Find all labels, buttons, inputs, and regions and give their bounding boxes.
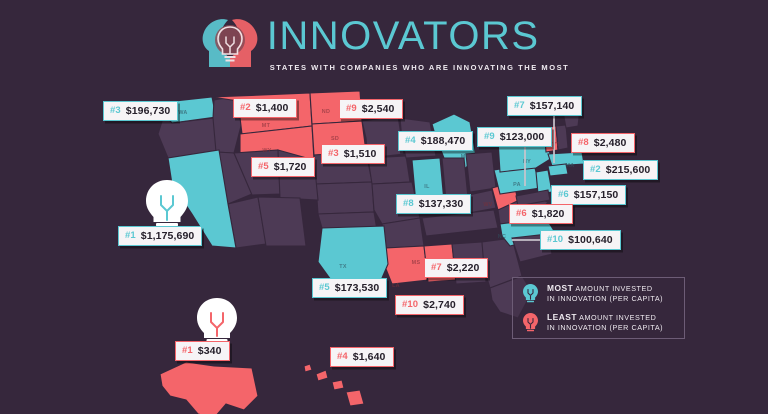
pill-rank: #2 (590, 164, 601, 175)
pill-amount: $1,720 (274, 161, 307, 173)
value-pill-mi[interactable]: #4$188,470 (398, 131, 473, 151)
pill-amount: $1,400 (256, 102, 289, 114)
state-abbr-MA: MA (566, 163, 575, 169)
leader-line-ny (553, 111, 555, 163)
pill-amount: $1,820 (532, 208, 565, 220)
pill-amount: $137,330 (419, 198, 464, 210)
pill-rank: #4 (405, 135, 416, 146)
state-OH (466, 152, 496, 192)
value-pill-sd[interactable]: #3$1,510 (321, 144, 385, 164)
leader-line-pa (524, 142, 526, 186)
pill-rank: #3 (328, 148, 339, 159)
value-pill-wy[interactable]: #5$1,720 (251, 157, 315, 177)
legend-least-strong: LEAST (547, 312, 577, 322)
value-pill-ak[interactable]: #1$340 (175, 341, 230, 361)
state-AK (160, 362, 258, 414)
brand-title: INNOVATORS (267, 16, 540, 56)
pill-amount: $196,730 (126, 105, 171, 117)
pill-amount: $188,470 (421, 135, 466, 147)
state-abbr-WV: WV (483, 202, 492, 208)
value-pill-nc[interactable]: #10$100,640 (540, 230, 621, 250)
pill-amount: $1,640 (353, 351, 386, 363)
state-HI-3 (332, 380, 344, 390)
pill-rank: #5 (319, 282, 330, 293)
pill-amount: $215,600 (606, 164, 651, 176)
legend-most-line1: MOST AMOUNT INVESTED (547, 283, 663, 294)
value-pill-ma[interactable]: #2$215,600 (583, 160, 658, 180)
value-pill-la[interactable]: #10$2,740 (395, 295, 464, 315)
value-pill-mt[interactable]: #2$1,400 (233, 98, 297, 118)
legend-least-rest: AMOUNT INVESTED (577, 313, 656, 322)
value-pill-ca[interactable]: #1$1,175,690 (118, 226, 202, 246)
state-abbr-NC: NC (498, 234, 506, 240)
state-AR (382, 218, 424, 248)
state-KS (316, 182, 374, 214)
pill-rank: #10 (547, 234, 563, 245)
value-pill-nj[interactable]: #6$157,150 (551, 185, 626, 205)
state-abbr-MI: MI (461, 154, 468, 160)
head-lightbulb-icon (199, 15, 261, 73)
state-abbr-PA: PA (513, 182, 521, 188)
pill-amount: $1,510 (344, 148, 377, 160)
state-HI-1 (304, 364, 312, 372)
pill-rank: #8 (578, 137, 589, 148)
legend-most-rest: AMOUNT INVESTED (573, 284, 652, 293)
legend-least-line1: LEAST AMOUNT INVESTED (547, 312, 663, 323)
value-pill-ms[interactable]: #7$2,220 (424, 258, 488, 278)
pill-amount: $123,000 (500, 131, 545, 143)
legend-text-least: LEAST AMOUNT INVESTED IN INNOVATION (PER… (547, 312, 663, 333)
pill-amount: $157,150 (574, 189, 619, 201)
pill-amount: $157,140 (530, 100, 575, 112)
pill-rank: #8 (403, 198, 414, 209)
pill-amount: $2,220 (447, 262, 480, 274)
pill-rank: #2 (240, 102, 251, 113)
pill-rank: #10 (402, 299, 418, 310)
pill-rank: #9 (484, 131, 495, 142)
pill-rank: #5 (258, 161, 269, 172)
value-pill-il[interactable]: #8$137,330 (396, 194, 471, 214)
pill-amount: $2,480 (594, 137, 627, 149)
pill-amount: $2,540 (362, 103, 395, 115)
state-abbr-WY: WY (262, 148, 271, 154)
value-pill-nd[interactable]: #9$2,540 (339, 99, 403, 119)
value-pill-wv[interactable]: #6$1,820 (509, 204, 573, 224)
pill-amount: $340 (198, 345, 222, 357)
pill-rank: #1 (182, 345, 193, 356)
pill-amount: $100,640 (568, 234, 613, 246)
leader-line-nc (512, 239, 542, 241)
legend-most-strong: MOST (547, 283, 573, 293)
state-abbr-TX: TX (339, 264, 347, 270)
pill-rank: #4 (337, 351, 348, 362)
legend-least-line2: IN INNOVATION (PER CAPITA) (547, 323, 663, 333)
value-pill-vt[interactable]: #8$2,480 (571, 133, 635, 153)
header: INNOVATORS STATES WITH COMPANIES WHO ARE… (0, 8, 768, 80)
legend: MOST AMOUNT INVESTED IN INNOVATION (PER … (512, 277, 685, 339)
title-block: INNOVATORS STATES WITH COMPANIES WHO ARE… (267, 16, 570, 72)
legend-most-line2: IN INNOVATION (PER CAPITA) (547, 294, 663, 304)
state-abbr-WA: WA (178, 110, 187, 116)
pill-rank: #6 (558, 189, 569, 200)
subtitle: STATES WITH COMPANIES WHO ARE INNOVATING… (270, 63, 570, 72)
pill-rank: #7 (514, 100, 525, 111)
pill-amount: $173,530 (335, 282, 380, 294)
value-pill-wa[interactable]: #3$196,730 (103, 101, 178, 121)
state-abbr-MT: MT (262, 123, 271, 129)
value-pill-pa[interactable]: #9$123,000 (477, 127, 552, 147)
state-abbr-IL: IL (424, 184, 430, 190)
legend-text-most: MOST AMOUNT INVESTED IN INNOVATION (PER … (547, 283, 663, 304)
state-NM (258, 197, 306, 246)
state-abbr-SD: SD (331, 136, 339, 142)
infographic-canvas: INNOVATORS STATES WITH COMPANIES WHO ARE… (0, 0, 768, 414)
pill-rank: #7 (431, 262, 442, 273)
pill-rank: #9 (346, 103, 357, 114)
value-pill-hi[interactable]: #4$1,640 (330, 347, 394, 367)
state-HI-2 (316, 370, 328, 381)
value-pill-tx[interactable]: #5$173,530 (312, 278, 387, 298)
lightbulb-icon (522, 312, 539, 334)
legend-row-most: MOST AMOUNT INVESTED IN INNOVATION (PER … (522, 283, 675, 305)
state-abbr-MS: MS (412, 260, 421, 266)
logo-wrap: INNOVATORS STATES WITH COMPANIES WHO ARE… (199, 15, 570, 73)
state-abbr-LA: LA (392, 283, 400, 289)
state-abbr-ND: ND (322, 109, 330, 115)
state-LA (384, 246, 428, 284)
lightbulb-icon (522, 283, 539, 305)
legend-row-least: LEAST AMOUNT INVESTED IN INNOVATION (PER… (522, 312, 675, 334)
pill-amount: $2,740 (423, 299, 456, 311)
state-HI-4 (346, 390, 364, 406)
pill-rank: #1 (125, 230, 136, 241)
pill-amount: $1,175,690 (141, 230, 195, 242)
pill-rank: #6 (516, 208, 527, 219)
pill-rank: #3 (110, 105, 121, 116)
value-pill-ny[interactable]: #7$157,140 (507, 96, 582, 116)
state-TN (422, 210, 498, 236)
